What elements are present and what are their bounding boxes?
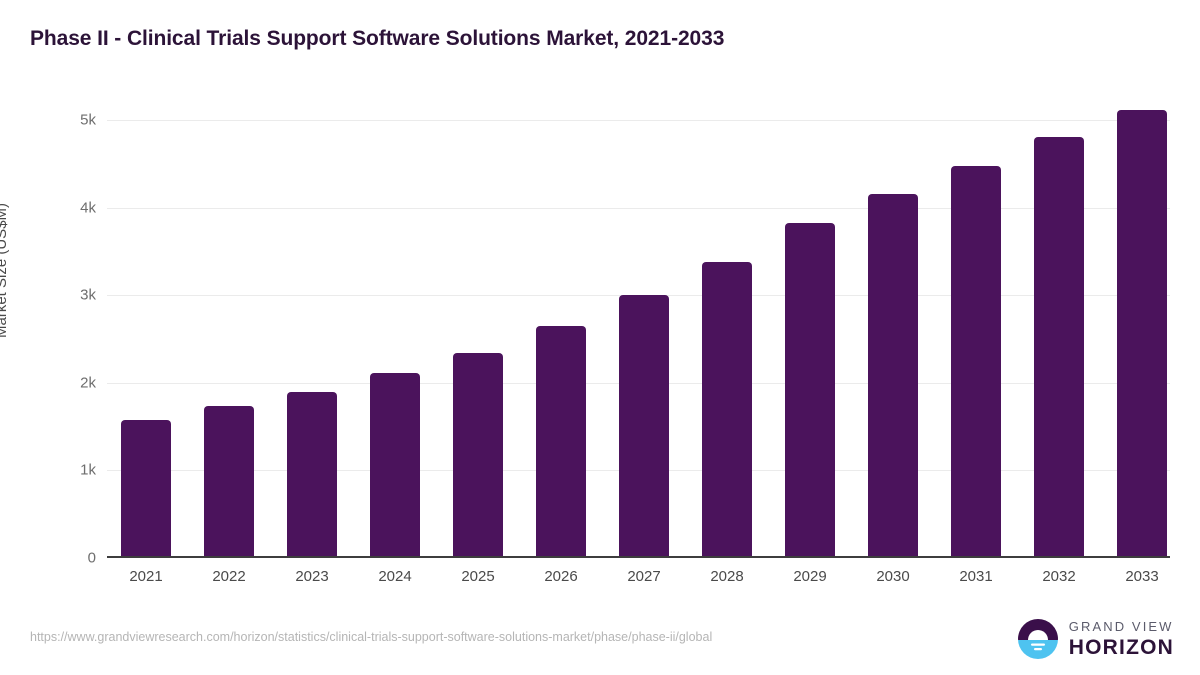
bar[interactable] [785,223,835,559]
bar[interactable] [287,392,337,558]
bar[interactable] [204,406,254,558]
bar[interactable] [121,420,171,558]
y-axis-tick-label: 5k [40,112,96,129]
x-axis-tick-label: 2029 [770,568,850,585]
logo-wordmark: GRAND VIEW HORIZON [1069,620,1174,658]
x-axis-tick-label: 2030 [853,568,933,585]
x-axis-tick-label: 2026 [521,568,601,585]
y-axis-tick-label: 1k [40,462,96,479]
y-axis-title: Market Size (US$M) [0,203,10,338]
bar[interactable] [702,262,752,558]
x-axis-tick-label: 2028 [687,568,767,585]
source-url[interactable]: https://www.grandviewresearch.com/horizo… [30,630,712,644]
bar[interactable] [1034,137,1084,558]
x-axis-tick-label: 2027 [604,568,684,585]
bar[interactable] [453,353,503,558]
x-axis-tick-label: 2024 [355,568,435,585]
logo-top-line: GRAND VIEW [1069,620,1174,633]
y-axis-tick-label: 3k [40,287,96,304]
logo-bottom-line: HORIZON [1069,637,1174,658]
gridline [107,120,1170,121]
y-axis-tick-label: 4k [40,199,96,216]
brand-logo: GRAND VIEW HORIZON [1016,617,1174,661]
x-axis-tick-label: 2032 [1019,568,1099,585]
plot-area [107,112,1170,558]
chart-screenshot: Phase II - Clinical Trials Support Softw… [0,0,1200,675]
bar[interactable] [1117,110,1167,559]
bar[interactable] [868,194,918,558]
horizon-circle-icon [1016,617,1060,661]
gridline [107,208,1170,209]
bar[interactable] [370,373,420,558]
page-title: Phase II - Clinical Trials Support Softw… [30,27,724,51]
y-axis-tick-label: 0 [40,550,96,567]
bar[interactable] [536,326,586,558]
x-axis-tick-label: 2025 [438,568,518,585]
x-axis-tick-label: 2033 [1102,568,1182,585]
bar[interactable] [951,166,1001,558]
x-axis-tick-label: 2022 [189,568,269,585]
x-axis-tick-label: 2031 [936,568,1016,585]
y-axis-tick-label: 2k [40,374,96,391]
x-axis-tick-label: 2021 [106,568,186,585]
x-axis-line [107,556,1170,558]
x-axis-tick-label: 2023 [272,568,352,585]
bar[interactable] [619,295,669,558]
